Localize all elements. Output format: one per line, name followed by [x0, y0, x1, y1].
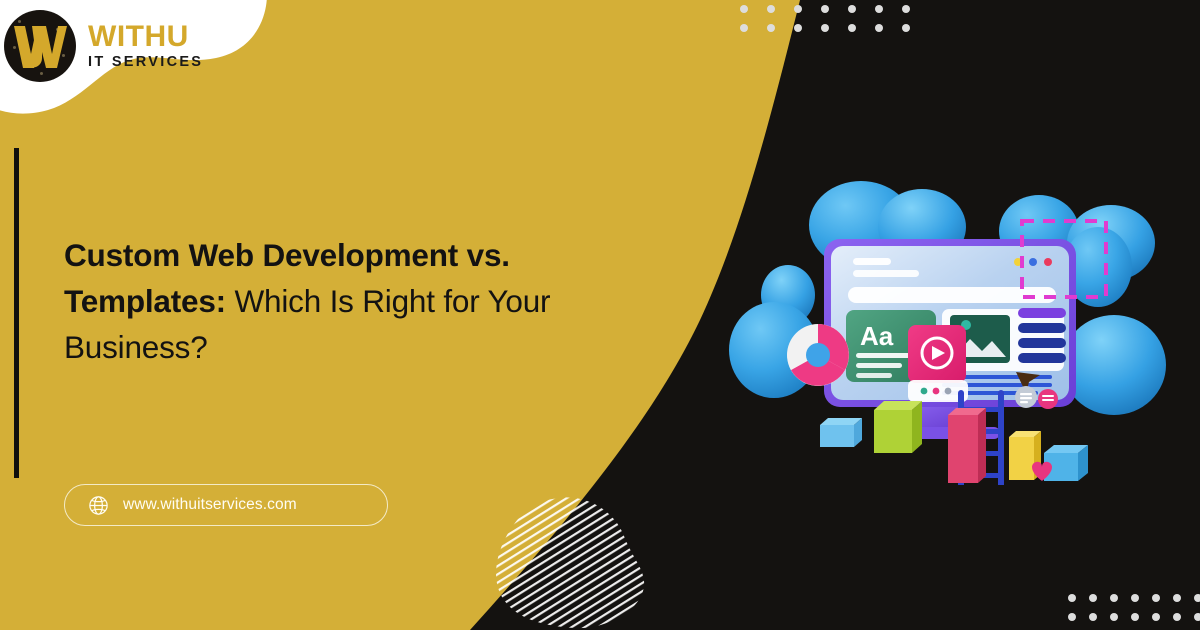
stacked-boxes-right: [948, 408, 1088, 483]
decor-dot: [767, 24, 775, 32]
sample-text: Aa: [860, 321, 894, 351]
decor-dot: [1110, 594, 1118, 602]
decor-dot: [1089, 613, 1097, 621]
logo-wordmark: WITHU IT SERVICES: [88, 22, 203, 70]
decor-dot: [902, 24, 910, 32]
decor-dot: [794, 24, 802, 32]
logo-name-secondary: IT SERVICES: [88, 55, 203, 70]
decor-dot: [848, 5, 856, 13]
website-url-text: www.withuitservices.com: [123, 496, 297, 514]
decor-dot: [821, 5, 829, 13]
decor-dot: [848, 24, 856, 32]
website-url-pill[interactable]: www.withuitservices.com: [64, 484, 388, 526]
page-title: Custom Web Development vs. Templates: Wh…: [64, 232, 584, 370]
decor-dot: [1152, 594, 1160, 602]
donut-chart: [787, 324, 849, 386]
decor-dot: [1173, 594, 1181, 602]
decor-dot: [821, 24, 829, 32]
blog-banner: Aa: [0, 0, 1200, 630]
decor-dot: [902, 5, 910, 13]
decor-dot: [1131, 594, 1139, 602]
decor-dot: [1173, 613, 1181, 621]
decor-dot: [767, 5, 775, 13]
dot-grid-bottom-right: [1068, 594, 1200, 630]
decor-dot: [1194, 594, 1200, 602]
withu-monogram-icon: [4, 10, 76, 82]
striped-blob-decoration: [482, 492, 652, 630]
decor-dot: [794, 5, 802, 13]
logo-name-primary: WITHU: [88, 22, 203, 52]
decor-dot: [740, 24, 748, 32]
vertical-accent-bar: [14, 148, 19, 478]
hero-illustration: Aa: [726, 175, 1186, 485]
decor-dot: [1194, 613, 1200, 621]
decor-dot: [1068, 594, 1076, 602]
decor-dot: [1068, 613, 1076, 621]
list-row: [1018, 308, 1066, 318]
decor-dot: [875, 5, 883, 13]
decor-dot: [1152, 613, 1160, 621]
stacked-boxes-left: [820, 401, 922, 453]
decor-dot: [1089, 594, 1097, 602]
decor-dot: [1110, 613, 1118, 621]
decor-dot: [740, 5, 748, 13]
globe-icon: [87, 494, 110, 517]
dot-grid-top-right: [740, 5, 890, 45]
decor-dot: [875, 24, 883, 32]
decor-dot: [1131, 613, 1139, 621]
brand-logo-badge[interactable]: WITHU IT SERVICES: [0, 0, 275, 120]
